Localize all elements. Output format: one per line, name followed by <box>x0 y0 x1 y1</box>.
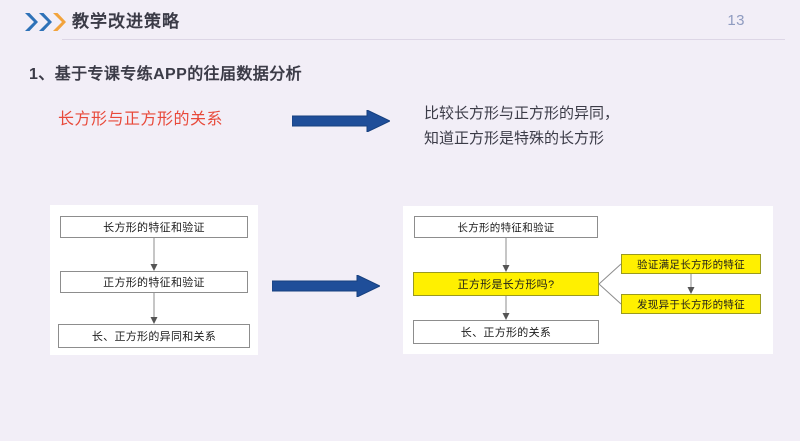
flow-box-compare-relation: 长、正方形的异同和关系 <box>58 324 250 348</box>
page-number: 13 <box>727 12 745 29</box>
chevron-group-icon <box>24 12 70 32</box>
flow-box-rectangle-features: 长方形的特征和验证 <box>60 216 248 238</box>
chevron-right-icon-2 <box>38 12 52 32</box>
goal-line-2: 知道正方形是特殊的长方形 <box>424 126 619 151</box>
original-flowchart-panel: 长方形的特征和验证 正方形的特征和验证 长、正方形的异同和关系 <box>50 205 258 355</box>
chevron-right-icon-3 <box>52 12 66 32</box>
flow-box-rectangle-features-improved: 长方形的特征和验证 <box>414 216 598 238</box>
flow-box-square-features: 正方形的特征和验证 <box>60 271 248 293</box>
slide-header: 教学改进策略 13 <box>0 0 800 44</box>
slide-canvas: 教学改进策略 13 1、基于专课专练APP的往届数据分析 长方形与正方形的关系 … <box>0 0 800 441</box>
flow-box-verify-satisfies-rectangle: 验证满足长方形的特征 <box>621 254 761 274</box>
goal-line-1: 比较长方形与正方形的异同， <box>424 101 619 126</box>
flow-box-decision-is-square-rectangle: 正方形是长方形吗? <box>413 272 599 296</box>
section-heading: 1、基于专课专练APP的往届数据分析 <box>29 60 302 84</box>
flow-box-find-difference-rectangle: 发现异于长方形的特征 <box>621 294 761 314</box>
improved-flowchart-panel: 长方形的特征和验证 正方形是长方形吗? 长、正方形的关系 验证满足长方形的特征 … <box>403 206 773 354</box>
flow-box-relation-improved: 长、正方形的关系 <box>413 320 599 344</box>
learning-goal-text: 比较长方形与正方形的异同， 知道正方形是特殊的长方形 <box>424 101 619 151</box>
chevron-right-icon-1 <box>24 12 38 32</box>
topic-label: 长方形与正方形的关系 <box>58 105 223 129</box>
page-title: 教学改进策略 <box>72 7 180 32</box>
arrow-right-icon-flow <box>272 275 380 297</box>
header-divider <box>62 39 785 40</box>
arrow-right-icon-topic <box>292 110 390 132</box>
